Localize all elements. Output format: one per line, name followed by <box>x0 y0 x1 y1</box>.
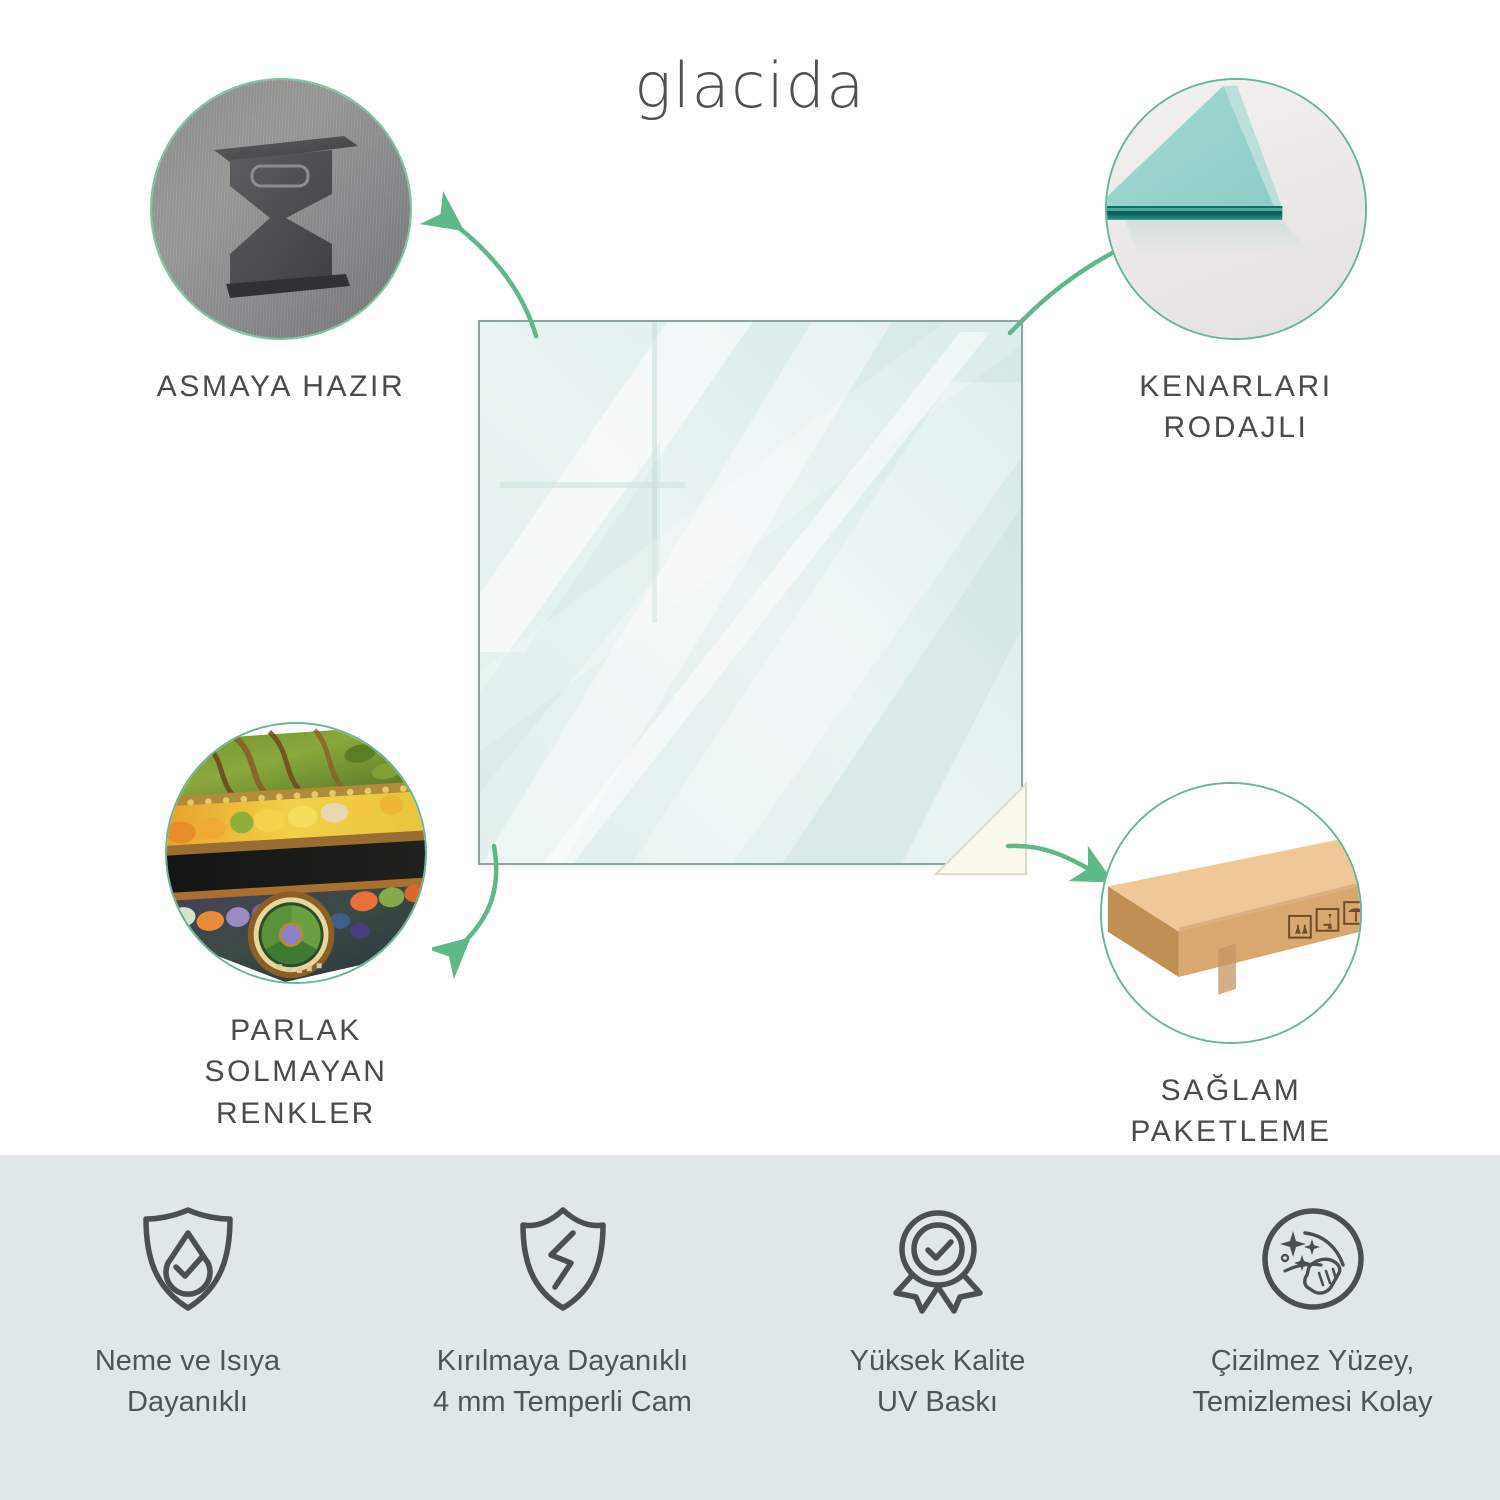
carton-box-shape <box>1102 784 1360 1042</box>
benefits-band: Neme ve Isıya Dayanıklı Kırılmaya Dayanı… <box>0 1155 1500 1500</box>
stained-glass-circle <box>165 722 427 984</box>
infographic-page: glacida <box>0 0 1500 1500</box>
polished-edge-circle <box>1105 78 1367 340</box>
bracket-silhouette-icon <box>212 132 362 302</box>
shield-lightning-bolt-icon <box>507 1203 619 1315</box>
stained-glass-artwork <box>167 724 425 982</box>
benefit-label-high-quality-print: Yüksek Kalite UV Baskı <box>850 1341 1026 1423</box>
feature-strong-packaging: SAĞLAM PAKETLEME <box>1100 782 1391 1153</box>
arrow-to-vivid-colors <box>432 840 612 1000</box>
feature-vivid-colors: PARLAK SOLMAYAN RENKLER <box>165 722 456 1134</box>
hanging-bracket-circle <box>150 78 412 340</box>
feature-label-polished-edges: KENARLARI RODAJLI <box>1076 366 1396 449</box>
sparkle-wiping-hand-circle-icon <box>1257 1203 1369 1315</box>
feature-label-vivid-colors: PARLAK SOLMAYAN RENKLER <box>136 1010 456 1134</box>
benefit-scratch-free: Çizilmez Yüzey, Temizlemesi Kolay <box>1143 1203 1483 1423</box>
benefit-moisture-heat: Neme ve Isıya Dayanıklı <box>18 1203 358 1423</box>
award-ribbon-check-icon <box>882 1203 994 1315</box>
feature-hanging-ready: ASMAYA HAZIR <box>150 78 441 407</box>
benefit-label-break-resistant: Kırılmaya Dayanıklı 4 mm Temperli Cam <box>433 1341 692 1423</box>
glass-edge-detail <box>1107 80 1365 338</box>
benefit-label-moisture-heat: Neme ve Isıya Dayanıklı <box>95 1341 280 1423</box>
arrow-to-hanging-ready <box>418 188 608 348</box>
packaging-circle <box>1100 782 1362 1044</box>
benefit-label-scratch-free: Çizilmez Yüzey, Temizlemesi Kolay <box>1192 1341 1432 1423</box>
feature-label-hanging-ready: ASMAYA HAZIR <box>121 366 441 407</box>
benefit-break-resistant: Kırılmaya Dayanıklı 4 mm Temperli Cam <box>393 1203 733 1423</box>
benefit-high-quality-print: Yüksek Kalite UV Baskı <box>768 1203 1108 1423</box>
feature-polished-edges: KENARLARI RODAJLI <box>1105 78 1396 449</box>
shield-water-drop-check-icon <box>132 1203 244 1315</box>
feature-label-strong-packaging: SAĞLAM PAKETLEME <box>1071 1070 1391 1153</box>
